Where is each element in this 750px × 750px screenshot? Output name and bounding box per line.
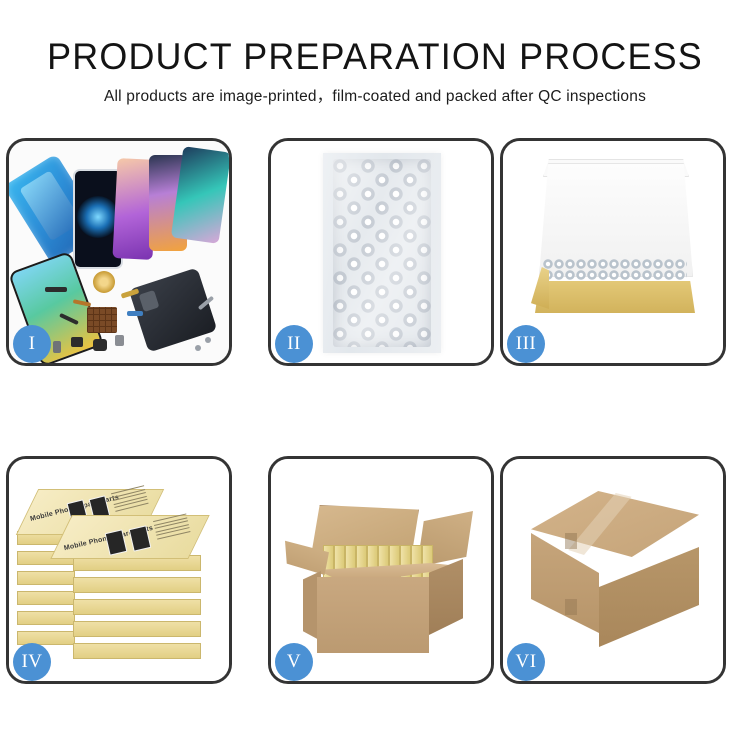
retail-box-edge [17,571,75,585]
small-part [93,339,107,351]
step-badge-2: II [275,325,313,363]
process-step-5: V [268,456,494,684]
step-badge-3: III [507,325,545,363]
process-step-3: III [500,138,726,366]
step-badge-1: I [13,325,51,363]
process-step-2: II [268,138,494,366]
retail-box-edge [17,611,75,625]
small-part [53,341,61,353]
retail-box-edge [73,643,201,659]
small-part [115,335,124,346]
step-badge-6: VI [507,643,545,681]
flex-cable-part [127,311,143,316]
process-step-grid: I II III [0,138,750,698]
retail-box-edge [73,621,201,637]
retail-box-edge [17,591,75,605]
screw-part [205,337,211,343]
small-part [45,287,67,292]
screw-part [195,345,201,351]
carton-seam-mark [565,599,577,615]
chip-grid-part [87,307,117,333]
page-header: PRODUCT PREPARATION PROCESS All products… [0,0,750,120]
retail-box-edge [73,577,201,593]
page-subtitle: All products are image-printed，film-coat… [0,84,750,106]
step-badge-5: V [275,643,313,681]
process-step-1: I [6,138,232,366]
carton-seam-mark [565,533,577,549]
plastic-sheen [333,159,431,347]
process-step-6: VI [500,456,726,684]
mailer-front-panel [535,281,695,313]
retail-box-edge [73,599,201,615]
step-badge-4: IV [13,643,51,681]
page-title: PRODUCT PREPARATION PROCESS [11,36,739,78]
process-step-4: Mobile Phone Spare Parts Mobile Phone Sp… [6,456,232,684]
small-part [71,337,83,347]
copper-coil-part [93,271,115,293]
carton-front-panel [317,577,429,653]
